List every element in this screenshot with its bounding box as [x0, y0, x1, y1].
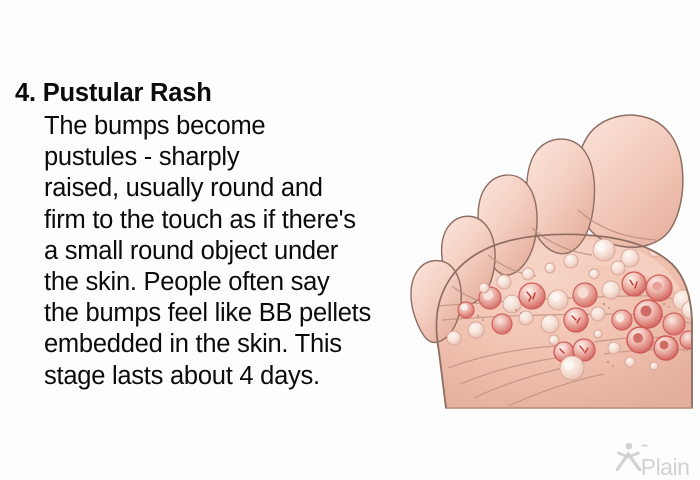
body-line: The bumps become — [44, 111, 430, 142]
foot-shape — [411, 115, 700, 408]
pustule — [608, 342, 620, 354]
pustule — [650, 362, 658, 370]
pustule — [654, 336, 678, 360]
foot-sole-with-pustular-rash-illustration — [408, 52, 700, 422]
x-plain-logo: -Plain — [616, 440, 696, 472]
pustule — [665, 238, 675, 248]
page-title: 4. Pustular Rash — [0, 78, 430, 109]
pustule — [594, 330, 602, 338]
body-paragraph: The bumps become pustules - sharply rais… — [0, 111, 430, 392]
body-line: firm to the touch as if there's — [44, 205, 430, 236]
text-column: 4. Pustular Rash The bumps become pustul… — [0, 78, 430, 392]
pustule — [548, 290, 568, 310]
pustule — [560, 356, 584, 380]
body-line: the skin. People often say — [44, 267, 430, 298]
pustule — [468, 322, 484, 338]
pustule — [503, 295, 521, 313]
slide-canvas: 4. Pustular Rash The bumps become pustul… — [0, 0, 700, 480]
pustule — [497, 275, 511, 289]
pustule — [458, 302, 474, 318]
pustule — [625, 357, 635, 367]
pustule — [602, 281, 620, 299]
pustule — [545, 263, 555, 273]
pustule — [549, 335, 559, 345]
pustule — [573, 283, 597, 307]
pustule — [593, 239, 615, 261]
pustule — [663, 313, 685, 335]
pustule — [564, 254, 578, 268]
x-plain-figure-icon — [616, 441, 642, 471]
pustule — [627, 327, 653, 353]
pustule — [541, 315, 559, 333]
body-line: stage lasts about 4 days. — [44, 361, 430, 392]
pustule — [591, 307, 605, 321]
body-line: raised, usually round and — [44, 173, 430, 204]
logo-text: -Plain — [641, 433, 696, 479]
body-line: a small round object under — [44, 236, 430, 267]
pustule — [492, 314, 512, 334]
pustule — [634, 300, 662, 328]
pustule — [564, 308, 588, 332]
pustule — [612, 310, 632, 330]
pustule — [684, 264, 700, 280]
pustule — [646, 275, 672, 301]
pustule — [447, 331, 461, 345]
pustule — [680, 331, 698, 349]
pustule — [622, 272, 646, 296]
pustule — [479, 283, 489, 293]
pustule — [611, 261, 625, 275]
pustule — [519, 283, 545, 309]
pustule — [522, 268, 534, 280]
pustule — [589, 269, 599, 279]
body-line: the bumps feel like BB pellets — [44, 298, 430, 329]
body-line: embedded in the skin. This — [44, 329, 430, 360]
body-line: pustules - sharply — [44, 142, 430, 173]
